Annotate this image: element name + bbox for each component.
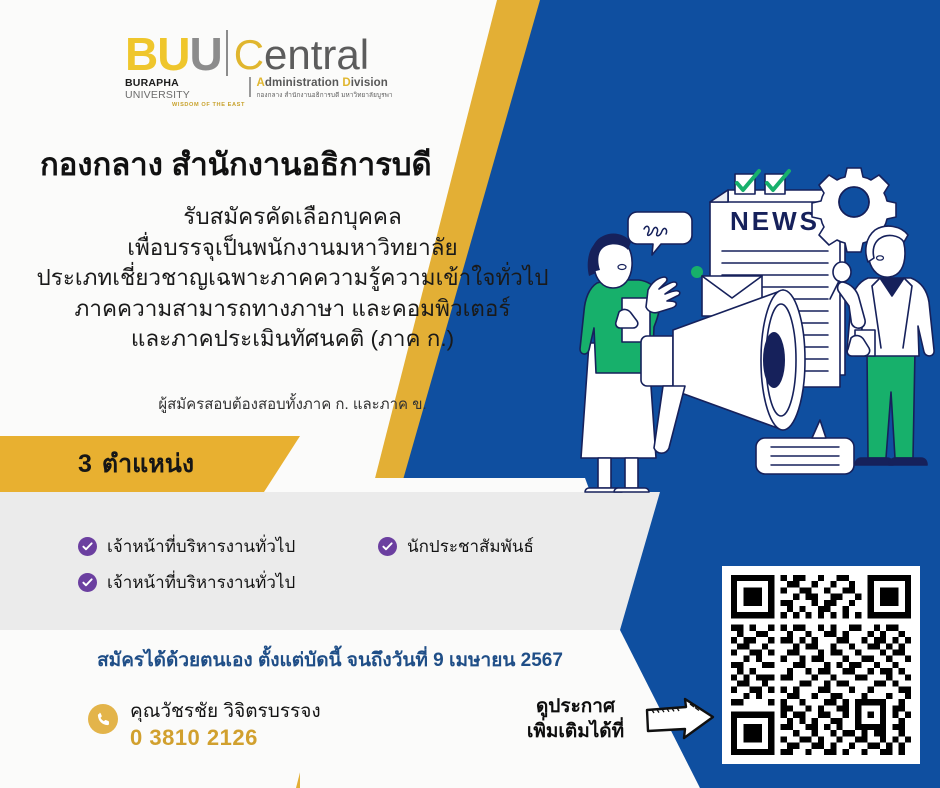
logo-university-thin: UNIVERSITY — [125, 89, 190, 101]
logo-central-cap: C — [234, 31, 264, 78]
logo-central-rest: entral — [264, 31, 369, 78]
contact-name: คุณวัชรชัย วิจิตรบรรจง — [130, 700, 321, 724]
positions-row-1: เจ้าหน้าที่บริหารงานทั่วไป นักประชาสัมพั… — [78, 533, 638, 560]
contact-phone: 0 3810 2126 — [130, 724, 321, 752]
application-period-text: สมัครได้ด้วยตนเอง ตั้งแต่บัดนี้ จนถึงวัน… — [20, 645, 640, 675]
body-line-3: ประเภทเชี่ยวชาญเฉพาะภาคความรู้ความเข้าใจ… — [20, 263, 565, 294]
body-line-2: เพื่อบรรจุเป็นพนักงานมหาวิทยาลัย — [20, 233, 565, 264]
list-item: นักประชาสัมพันธ์ — [378, 533, 534, 560]
logo-vertical-divider-2 — [249, 77, 251, 97]
positions-count-label: ตำแหน่ง — [102, 450, 194, 478]
list-item: เจ้าหน้าที่บริหารงานทั่วไป — [78, 533, 378, 560]
check-mark-icon — [765, 171, 789, 194]
logo-burapha-bold: BURAPHA — [125, 77, 179, 89]
check-mark-icon — [735, 171, 759, 194]
check-circle-icon — [378, 537, 397, 556]
news-announcement-illustration: NEWS — [575, 150, 940, 495]
positions-count-number: 3 — [78, 450, 92, 478]
phone-icon — [88, 704, 118, 734]
body-line-5: และภาคประเมินทัศนคติ (ภาค ก.) — [20, 324, 565, 355]
qr-code[interactable] — [722, 566, 920, 764]
logo-university-block: BURAPHA UNIVERSITY WISDOM OF THE EAST — [125, 77, 245, 108]
qr-callout-line-2: เพิ่มเติมได้ที่ — [508, 719, 643, 744]
buu-central-logo: B U U Central BURAPHA UNIVERSITY WISDOM … — [125, 26, 415, 98]
logo-division-cap: D — [342, 77, 350, 89]
exam-note: ผู้สมัครสอบต้องสอบทั้งภาค ก. และภาค ข. — [20, 392, 565, 416]
arrow-right-doodle-icon — [644, 696, 716, 742]
check-circle-icon — [78, 537, 97, 556]
logo-letter-u2: U — [189, 32, 221, 76]
position-label: นักประชาสัมพันธ์ — [407, 533, 534, 560]
announcement-body: รับสมัครคัดเลือกบุคคล เพื่อบรรจุเป็นพนัก… — [20, 202, 565, 355]
qr-callout-line-1: ดูประกาศ — [508, 694, 643, 719]
logo-letter-b: B — [125, 32, 157, 76]
positions-count-banner: 3ตำแหน่ง — [0, 436, 300, 492]
megaphone-icon — [641, 290, 805, 453]
logo-central-word: Central — [234, 34, 369, 76]
contact-text: คุณวัชรชัย วิจิตรบรรจง 0 3810 2126 — [130, 700, 321, 752]
logo-thai-subtitle: กองกลาง สำนักงานอธิการบดี มหาวิทยาลัยบูร… — [257, 90, 393, 100]
logo-admin-cap: A — [257, 77, 265, 89]
qr-callout-text: ดูประกาศ เพิ่มเติมได้ที่ — [508, 694, 643, 744]
speech-bubble-icon — [756, 420, 854, 474]
logo-subtitle-row: BURAPHA UNIVERSITY WISDOM OF THE EAST Ad… — [125, 77, 415, 108]
body-line-1: รับสมัครคัดเลือกบุคคล — [20, 202, 565, 233]
positions-list: เจ้าหน้าที่บริหารงานทั่วไป นักประชาสัมพั… — [78, 533, 638, 605]
poster-canvas: B U U Central BURAPHA UNIVERSITY WISDOM … — [0, 0, 940, 788]
check-circle-icon — [78, 573, 97, 592]
logo-wordmark-row: B U U Central — [125, 26, 415, 76]
position-label: เจ้าหน้าที่บริหารงานทั่วไป — [107, 533, 295, 560]
logo-admin-word: dministration — [265, 77, 339, 89]
body-line-4: ภาคความสามารถทางภาษา และคอมพิวเตอร์ — [20, 294, 565, 325]
logo-division-word: ivision — [351, 77, 388, 89]
list-item: เจ้าหน้าที่บริหารงานทั่วไป — [78, 569, 378, 596]
contact-block: คุณวัชรชัย วิจิตรบรรจง 0 3810 2126 — [88, 700, 321, 752]
positions-count-text: 3ตำแหน่ง — [78, 444, 194, 484]
logo-division-block: Administration Division กองกลาง สำนักงาน… — [257, 77, 393, 100]
position-label: เจ้าหน้าที่บริหารงานทั่วไป — [107, 569, 295, 596]
logo-letter-u1: U — [157, 32, 189, 76]
logo-wisdom-tagline: WISDOM OF THE EAST — [125, 102, 245, 108]
logo-vertical-divider — [226, 30, 228, 76]
logo-buu-letters: B U U — [125, 32, 222, 76]
logo-burapha-university: BURAPHA UNIVERSITY — [125, 77, 245, 101]
positions-row-2: เจ้าหน้าที่บริหารงานทั่วไป — [78, 569, 638, 596]
news-label: NEWS — [730, 206, 820, 236]
page-title: กองกลาง สำนักงานอธิการบดี — [40, 139, 545, 189]
logo-administration-division: Administration Division — [257, 77, 393, 89]
